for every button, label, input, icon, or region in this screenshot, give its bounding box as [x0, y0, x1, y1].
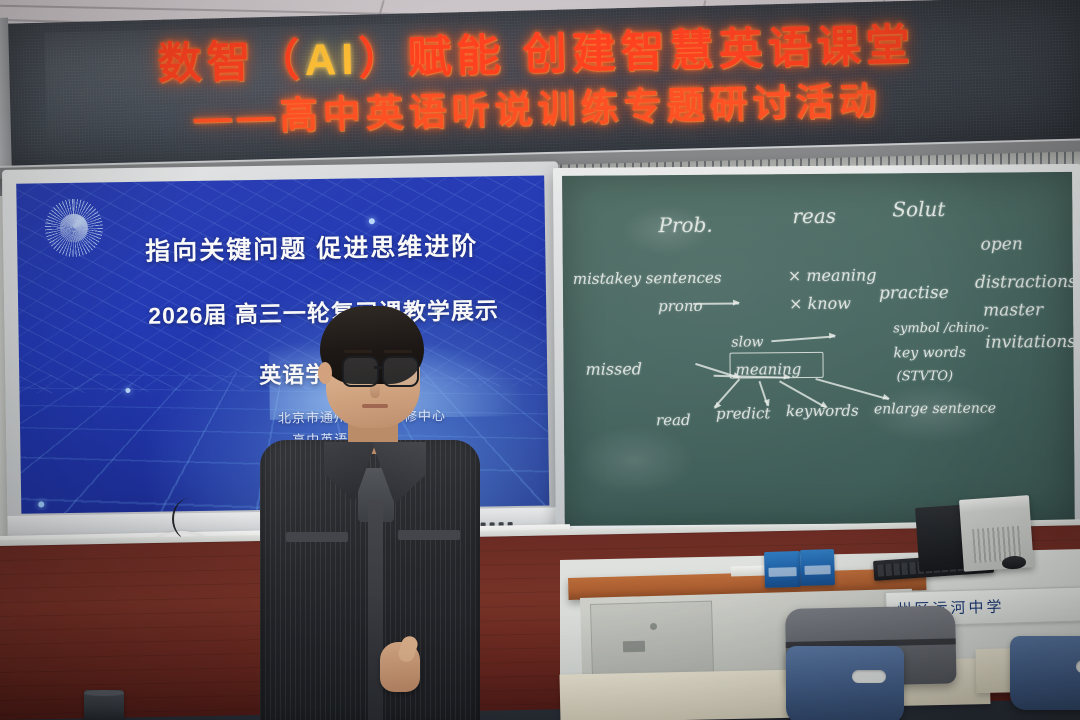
led-banner: 数智（AI）赋能 创建智慧英语课堂 ——高中英语听说训练专题研讨活动 — [0, 0, 1080, 178]
drawer-lock-icon — [650, 623, 657, 630]
blackboard-note: master — [983, 300, 1043, 320]
blackboard-note: enlarge sentence — [874, 401, 996, 418]
blackboard-note: key words — [893, 345, 966, 362]
led-line1-pre: 数智（ — [157, 36, 305, 89]
slide-title-line1: 指向关键问题 促进思维进阶 — [145, 227, 478, 268]
presenter-pocket-left — [286, 532, 348, 542]
presenter-mouth — [362, 404, 388, 408]
blackboard-surface: Prob.reasSolutmistakey sentencesprono× m… — [562, 172, 1075, 528]
blackboard-note: (STVTO) — [897, 369, 954, 384]
slide-dot — [125, 388, 130, 393]
arrow-slow — [771, 335, 835, 341]
arrow-down — [759, 381, 769, 406]
screen-indicator-icon — [38, 501, 44, 507]
blackboard-note: symbol /chino- — [893, 321, 989, 337]
arrow-enlarge — [815, 378, 889, 400]
blackboard: Prob.reasSolutmistakey sentencesprono× m… — [553, 164, 1080, 546]
blackboard-note: prono — [658, 297, 703, 315]
blackboard-note: missed — [586, 359, 643, 378]
presenter-brow — [344, 350, 372, 353]
glasses-lens-right-icon — [382, 356, 419, 387]
presenter-brow — [384, 350, 412, 353]
blackboard-note: practise — [879, 283, 949, 304]
blue-box — [764, 551, 801, 588]
classroom-scene: 数智（AI）赋能 创建智慧英语课堂 ——高中英语听说训练专题研讨活动 指向关键问… — [0, 0, 1080, 720]
cable — [172, 498, 208, 540]
blackboard-note: slow — [731, 334, 763, 350]
presenter-pocket-right — [398, 530, 460, 540]
slide-dot — [369, 218, 375, 224]
chair-back[interactable] — [786, 646, 904, 720]
blackboard-note: mistakey sentences — [573, 269, 722, 288]
student-desk — [560, 669, 811, 720]
led-line1-ai: AI — [304, 35, 359, 85]
chair-back[interactable] — [1010, 636, 1080, 710]
blackboard-note: × meaning — [788, 265, 877, 285]
blackboard-header: Solut — [892, 197, 945, 221]
blackboard-note: distractions — [975, 272, 1075, 293]
paper-sheet — [731, 565, 767, 576]
presenter — [252, 300, 487, 720]
glasses-bridge-icon — [374, 366, 383, 369]
blackboard-note: × know — [789, 294, 851, 313]
blackboard-note: predict — [716, 404, 771, 422]
blackboard-note: open — [981, 234, 1023, 254]
blackboard-header: reas — [792, 204, 836, 228]
arrow-prono2 — [693, 303, 739, 305]
trash-can — [84, 690, 124, 720]
presenter-nose — [370, 382, 380, 398]
presenter-placket — [368, 500, 383, 720]
blackboard-note: invitations — [985, 332, 1075, 353]
presenter-ear — [318, 362, 332, 384]
drawer-pull-icon[interactable] — [623, 641, 645, 653]
blackboard-notes: Prob.reasSolutmistakey sentencesprono× m… — [562, 172, 1072, 176]
blackboard-note: read — [656, 411, 691, 429]
blackboard-header: Prob. — [658, 213, 712, 237]
blue-box — [800, 549, 835, 586]
